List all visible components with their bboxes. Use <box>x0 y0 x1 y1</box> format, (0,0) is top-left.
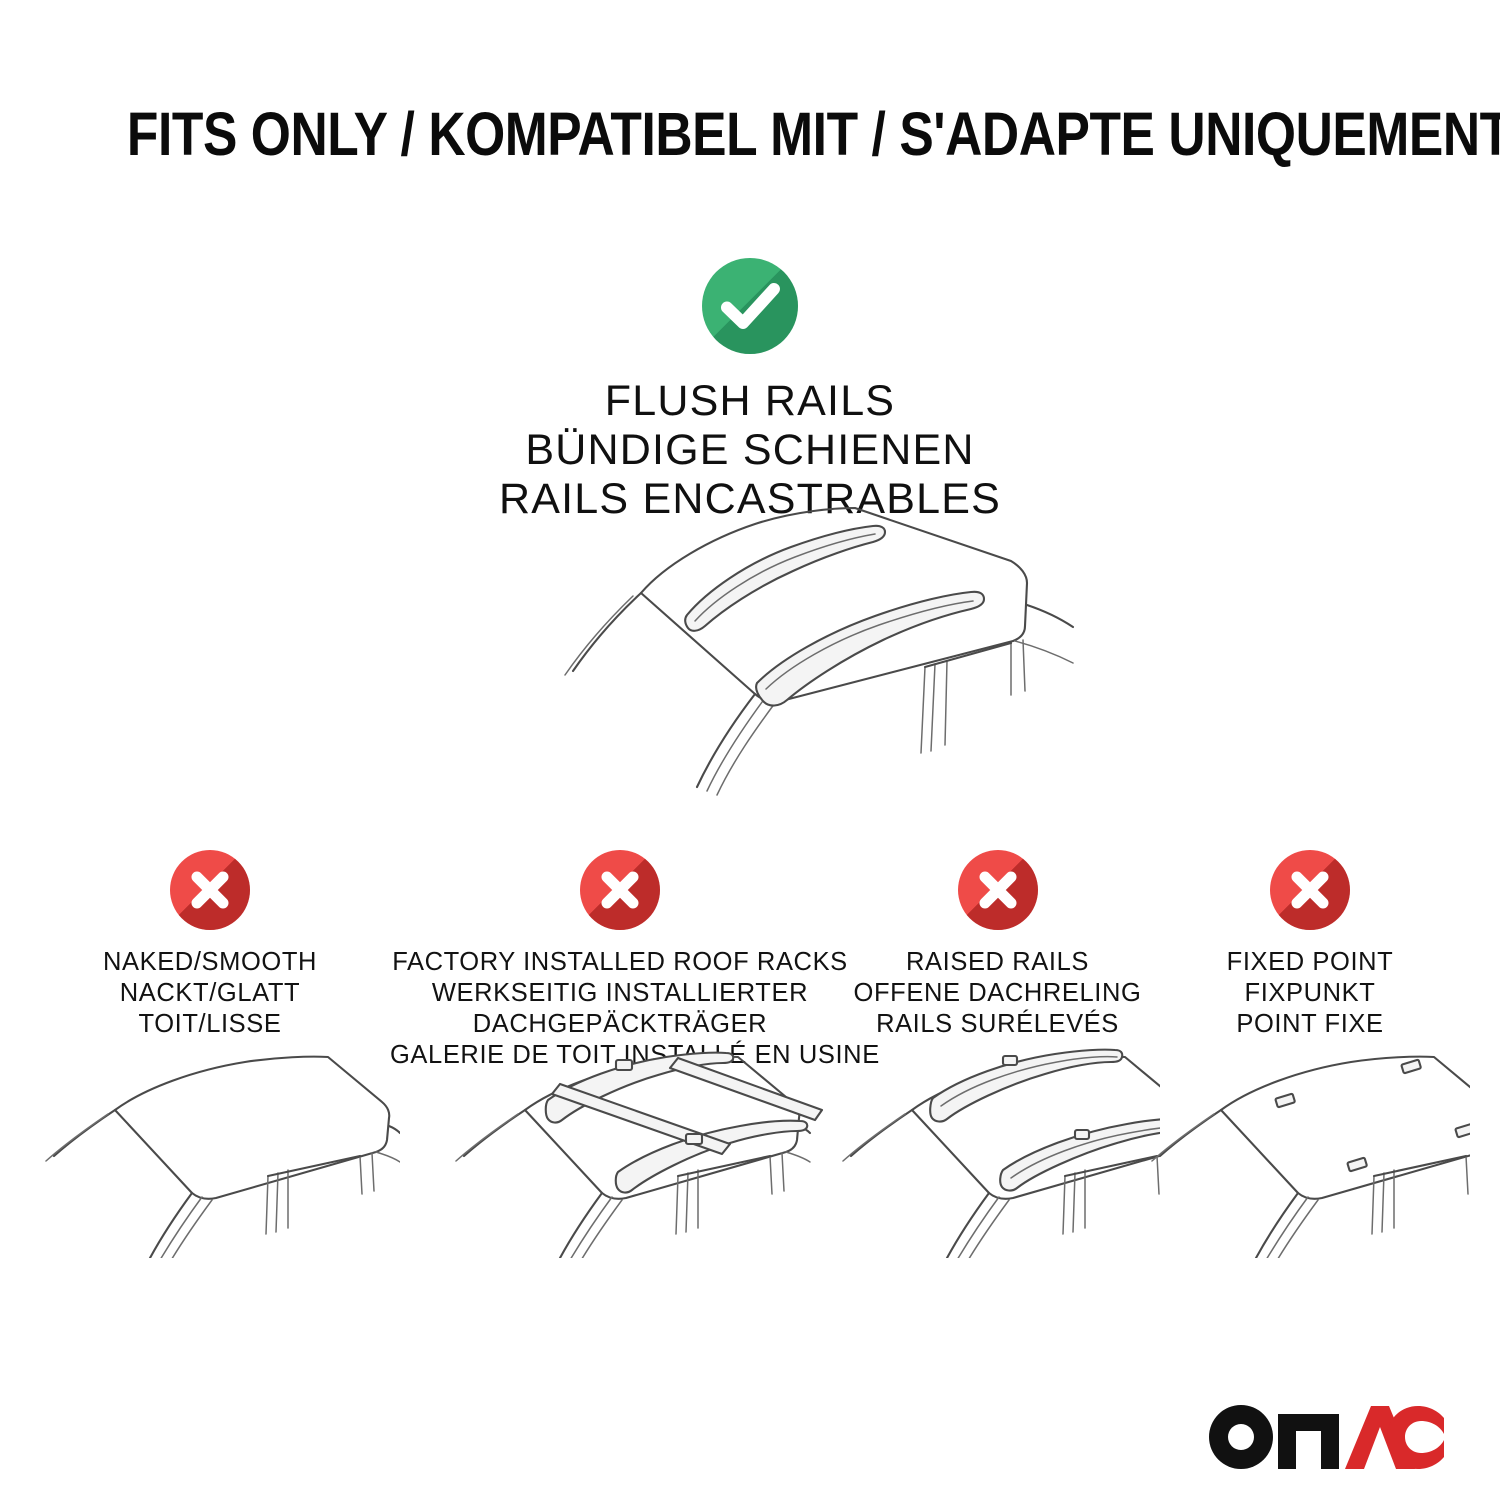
header: FITS ONLY / KOMPATIBEL MIT / S'ADAPTE UN… <box>0 104 1500 165</box>
label-line-fr: TOIT/LISSE <box>20 1009 400 1040</box>
compatible-label-en: FLUSH RAILS <box>0 377 1500 426</box>
cross-circle-icon <box>1270 850 1350 930</box>
label-line-en: FACTORY INSTALLED ROOF RACKS <box>390 947 850 978</box>
label-line-en: NAKED/SMOOTH <box>20 947 400 978</box>
logo-letter-o <box>1209 1405 1273 1469</box>
label-line-fr: RAILS SURÉLEVÉS <box>835 1009 1160 1040</box>
logo-letter-m <box>1278 1414 1339 1469</box>
label-line-de: FIXPUNKT <box>1150 978 1470 1009</box>
incompatible-label-raised-rails: RAISED RAILS OFFENE DACHRELING RAILS SUR… <box>835 947 1160 1040</box>
car-roof-factory-roof-racks-illustration <box>390 1048 850 1258</box>
cross-circle-icon <box>958 850 1038 930</box>
incompatible-item-factory-roof-racks: FACTORY INSTALLED ROOF RACKS WERKSEITIG … <box>390 850 850 1071</box>
cross-circle-icon <box>170 850 250 930</box>
label-line-de-1: WERKSEITIG INSTALLIERTER <box>390 978 850 1009</box>
incompatible-item-raised-rails: RAISED RAILS OFFENE DACHRELING RAILS SUR… <box>835 850 1160 1040</box>
incompatible-item-naked-smooth: NAKED/SMOOTH NACKT/GLATT TOIT/LISSE <box>20 850 400 1040</box>
label-line-en: FIXED POINT <box>1150 947 1470 978</box>
compatible-section: FLUSH RAILS BÜNDIGE SCHIENEN RAILS ENCAS… <box>0 258 1500 524</box>
label-line-de: OFFENE DACHRELING <box>835 978 1160 1009</box>
car-roof-naked-smooth-illustration <box>20 1048 400 1258</box>
label-line-fr: POINT FIXE <box>1150 1009 1470 1040</box>
incompatible-label-fixed-point: FIXED POINT FIXPUNKT POINT FIXE <box>1150 947 1470 1040</box>
label-line-de-2: DACHGEPÄCKTRÄGER <box>390 1009 850 1040</box>
page-title: FITS ONLY / KOMPATIBEL MIT / S'ADAPTE UN… <box>127 104 1500 165</box>
check-circle-icon <box>702 258 798 354</box>
car-roof-raised-rails-illustration <box>835 1048 1160 1258</box>
compatible-label-de: BÜNDIGE SCHIENEN <box>0 426 1500 475</box>
car-roof-with-flush-rails-illustration <box>455 495 1075 805</box>
car-roof-fixed-point-illustration <box>1150 1048 1470 1258</box>
incompatible-section: NAKED/SMOOTH NACKT/GLATT TOIT/LISSE <box>0 850 1500 1330</box>
incompatible-label-naked-smooth: NAKED/SMOOTH NACKT/GLATT TOIT/LISSE <box>20 947 400 1040</box>
label-line-de: NACKT/GLATT <box>20 978 400 1009</box>
incompatible-item-fixed-point: FIXED POINT FIXPUNKT POINT FIXE <box>1150 850 1470 1040</box>
omac-logo: OMAC <box>1208 1404 1444 1470</box>
cross-circle-icon <box>580 850 660 930</box>
label-line-en: RAISED RAILS <box>835 947 1160 978</box>
